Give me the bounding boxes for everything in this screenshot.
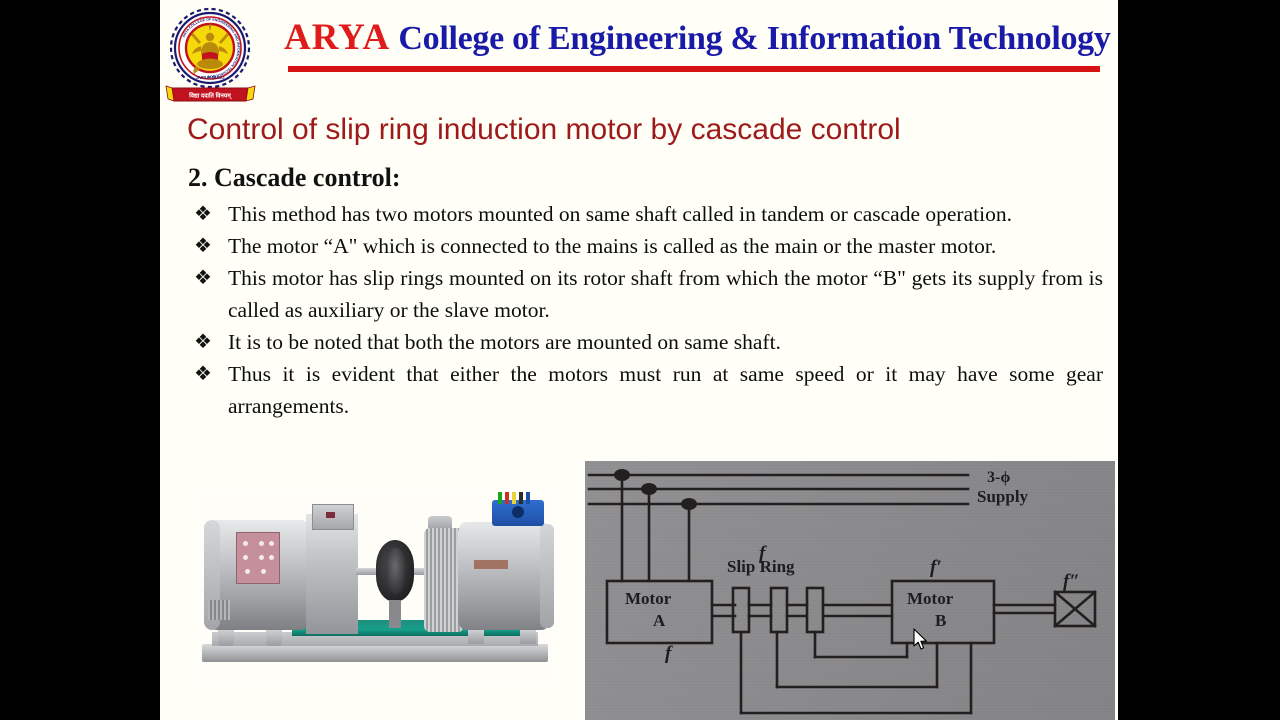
base-plate bbox=[202, 644, 548, 662]
screen: ARYA COLLEGE OF ENGINEERING AND INFORMAT… bbox=[0, 0, 1280, 720]
diamond-bullet-icon: ❖ bbox=[194, 262, 212, 294]
section-heading: 2. Cascade control: bbox=[188, 162, 401, 194]
motor-b-label-line1: Motor bbox=[907, 589, 953, 609]
motor-a-foot-left bbox=[218, 630, 234, 646]
list-item-text: Thus it is evident that either the motor… bbox=[228, 362, 1103, 418]
list-item: ❖ This motor has slip rings mounted on i… bbox=[188, 262, 1103, 326]
motor-b-label-line2: B bbox=[935, 611, 946, 631]
motor-a-foot-right bbox=[266, 630, 282, 646]
brand-arya: ARYA bbox=[284, 17, 390, 58]
frequency-label-rotor-a: f bbox=[665, 643, 671, 665]
motor-b-foot-right bbox=[520, 630, 536, 644]
bullet-list: ❖ This method has two motors mounted on … bbox=[188, 198, 1103, 422]
supply-label-line1: 3-ϕ bbox=[987, 469, 1010, 487]
list-item-text: It is to be noted that both the motors a… bbox=[228, 330, 781, 354]
frequency-label-load: f″ bbox=[1063, 571, 1080, 593]
list-item-text: This method has two motors mounted on sa… bbox=[228, 202, 1012, 226]
frequency-label-stator-a: f bbox=[759, 543, 765, 565]
diamond-bullet-icon: ❖ bbox=[194, 358, 212, 390]
list-item: ❖ This method has two motors mounted on … bbox=[188, 198, 1103, 230]
svg-text:विद्या ददाति विनयम्: विद्या ददाति विनयम् bbox=[188, 92, 232, 100]
motor-a-frame bbox=[306, 514, 358, 634]
diamond-bullet-icon: ❖ bbox=[194, 326, 212, 358]
list-item-text: This motor has slip rings mounted on its… bbox=[228, 266, 1103, 322]
motor-b-nameplate bbox=[474, 560, 508, 569]
page-title: Control of slip ring induction motor by … bbox=[187, 110, 1099, 150]
svg-text:JAIPUR (RAJ.): JAIPUR (RAJ.) bbox=[196, 75, 225, 80]
list-item: ❖ The motor “A" which is connected to th… bbox=[188, 230, 1103, 262]
arya-college-logo-icon: ARYA COLLEGE OF ENGINEERING AND INFORMAT… bbox=[162, 4, 260, 104]
motor-a-label-line1: Motor bbox=[625, 589, 671, 609]
list-item: ❖ Thus it is evident that either the mot… bbox=[188, 358, 1103, 422]
presentation-slide: ARYA COLLEGE OF ENGINEERING AND INFORMAT… bbox=[160, 0, 1118, 720]
frequency-label-motor-b: f′ bbox=[930, 557, 942, 579]
motor-a-vent bbox=[208, 600, 230, 620]
motor-b-body bbox=[458, 522, 550, 630]
college-name: ARYA College of Engineering & Informatio… bbox=[284, 18, 1104, 59]
list-item-text: The motor “A" which is connected to the … bbox=[228, 234, 996, 258]
letterbox-right bbox=[1118, 0, 1280, 720]
slide-header: ARYA COLLEGE OF ENGINEERING AND INFORMAT… bbox=[160, 0, 1118, 104]
header-divider-rule bbox=[288, 66, 1100, 72]
coupling-hub bbox=[386, 548, 406, 594]
diamond-bullet-icon: ❖ bbox=[194, 198, 212, 230]
coupling-support bbox=[389, 600, 401, 628]
brand-full-name: College of Engineering & Information Tec… bbox=[398, 20, 1110, 57]
supply-label-line2: Supply bbox=[977, 487, 1028, 507]
diamond-bullet-icon: ❖ bbox=[194, 230, 212, 262]
motor-a-junction-box-label bbox=[326, 512, 335, 518]
motor-a-terminal-plate bbox=[236, 532, 280, 584]
list-item: ❖ It is to be noted that both the motors… bbox=[188, 326, 1103, 358]
motor-a-label-line2: A bbox=[653, 611, 665, 631]
motor-b-end-cap bbox=[540, 524, 554, 628]
cascade-connection-circuit-diagram: 3-ϕ Supply Slip Ring Motor A Motor B f f… bbox=[585, 461, 1115, 720]
terminal-box-knob bbox=[512, 506, 524, 518]
letterbox-left bbox=[0, 0, 160, 720]
mouse-pointer-icon bbox=[913, 628, 929, 652]
motor-b-foot-left bbox=[468, 630, 484, 644]
motor-set-photo bbox=[196, 492, 556, 684]
